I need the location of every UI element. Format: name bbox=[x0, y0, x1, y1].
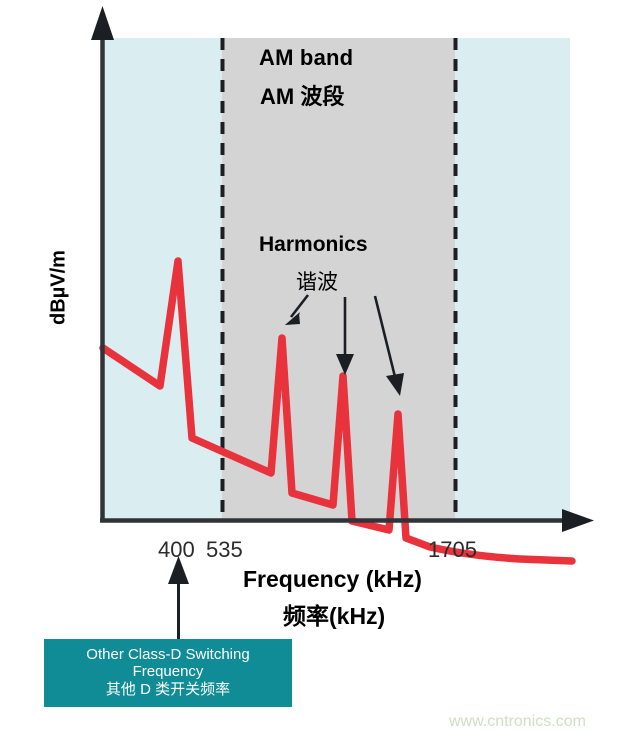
emi-spectrum-figure: AM band AM 波段 Harmonics 谐波 dBµV/m 400 53… bbox=[0, 0, 627, 742]
callout-arrow bbox=[168, 556, 189, 640]
y-axis-arrowhead bbox=[91, 6, 114, 40]
callout-line-1: Other Class-D Switching bbox=[86, 647, 249, 664]
harmonics-label-zh: 谐波 bbox=[296, 266, 338, 296]
callout-line-2: Frequency bbox=[133, 664, 204, 681]
x-axis-label-zh: 频率(kHz) bbox=[283, 597, 385, 631]
y-axis-label: dBµV/m bbox=[48, 228, 71, 348]
callout-line-3: 其他 D 类开关频率 bbox=[106, 682, 230, 699]
watermark-text: www.cntronics.com bbox=[449, 713, 586, 731]
class-d-switching-callout: Other Class-D Switching Frequency 其他 D 类… bbox=[44, 639, 292, 707]
x-axis-label-en: Frequency (kHz) bbox=[243, 566, 422, 593]
am-band-label-en: AM band bbox=[259, 45, 353, 71]
am-band-label-zh: AM 波段 bbox=[260, 79, 344, 111]
x-tick-label-400: 400 bbox=[158, 537, 195, 563]
x-tick-label-535: 535 bbox=[206, 537, 243, 563]
harmonics-label-en: Harmonics bbox=[259, 233, 368, 257]
x-tick-label-1705: 1705 bbox=[428, 537, 477, 563]
x-axis-arrowhead bbox=[562, 509, 594, 532]
